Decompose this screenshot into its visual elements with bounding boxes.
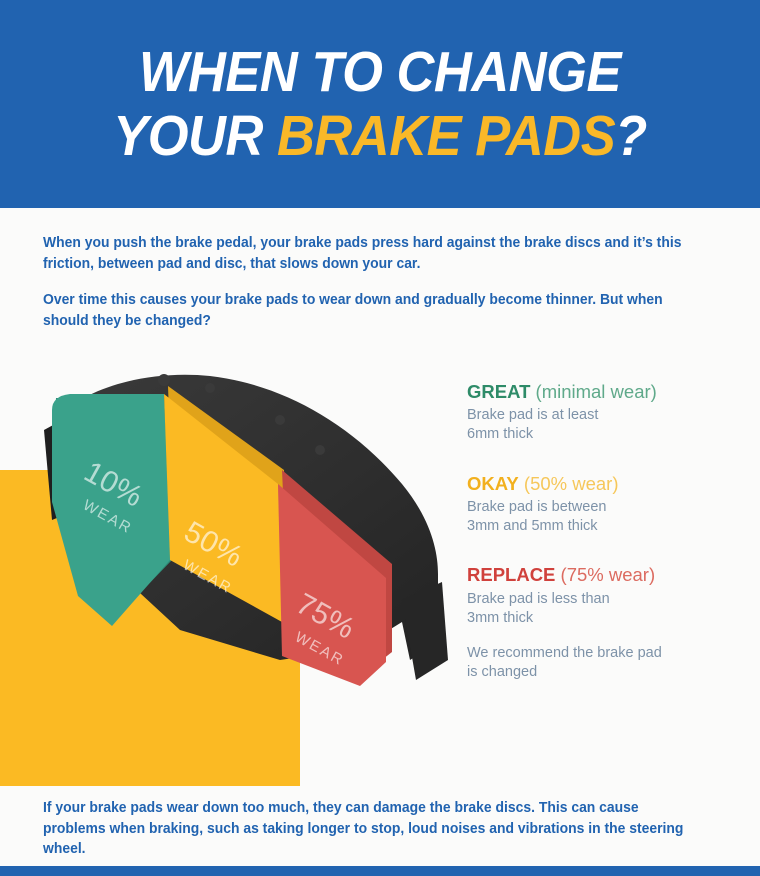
legend-replace-note-line-1: We recommend the brake pad bbox=[467, 644, 737, 663]
legend-replace-heading: REPLACE (75% wear) bbox=[467, 563, 737, 586]
page-title-question-mark: ? bbox=[615, 104, 647, 168]
legend-great-body-line-2: 6mm thick bbox=[467, 425, 737, 444]
page-title-line-1: WHEN TO CHANGE bbox=[139, 43, 621, 101]
brake-pad-illustration: 10% WEAR 50% WEAR 75% WEAR bbox=[30, 360, 470, 720]
legend-okay-heading: OKAY (50% wear) bbox=[467, 472, 737, 495]
wear-legend: GREAT (minimal wear) Brake pad is at lea… bbox=[467, 380, 737, 710]
legend-replace-note-line-2: is changed bbox=[467, 663, 737, 682]
intro-text: When you push the brake pedal, your brak… bbox=[43, 233, 686, 331]
header-banner: WHEN TO CHANGE YOUR BRAKE PADS? bbox=[0, 0, 760, 208]
legend-replace-body-line-2: 3mm thick bbox=[467, 609, 737, 628]
legend-item-replace: REPLACE (75% wear) Brake pad is less tha… bbox=[467, 563, 737, 682]
legend-okay-body-line-2: 3mm and 5mm thick bbox=[467, 517, 737, 536]
legend-okay-keyword: OKAY bbox=[467, 473, 519, 494]
intro-paragraph-1: When you push the brake pedal, your brak… bbox=[43, 233, 686, 274]
footnote-text: If your brake pads wear down too much, t… bbox=[43, 798, 696, 860]
legend-great-qualifier: (minimal wear) bbox=[536, 381, 657, 402]
legend-great-keyword: GREAT bbox=[467, 381, 530, 402]
footnote-paragraph: If your brake pads wear down too much, t… bbox=[43, 798, 696, 860]
page-title-plain: YOUR bbox=[113, 104, 277, 168]
legend-okay-body-line-1: Brake pad is between bbox=[467, 498, 737, 517]
intro-paragraph-2: Over time this causes your brake pads to… bbox=[43, 290, 686, 331]
bottom-accent-bar bbox=[0, 866, 760, 876]
legend-great-heading: GREAT (minimal wear) bbox=[467, 380, 737, 403]
legend-okay-qualifier: (50% wear) bbox=[524, 473, 619, 494]
legend-great-body-line-1: Brake pad is at least bbox=[467, 406, 737, 425]
legend-replace-keyword: REPLACE bbox=[467, 564, 555, 585]
legend-item-okay: OKAY (50% wear) Brake pad is between 3mm… bbox=[467, 472, 737, 537]
page-title-accent: BRAKE PADS bbox=[277, 104, 615, 168]
legend-replace-qualifier: (75% wear) bbox=[561, 564, 656, 585]
legend-replace-body-line-1: Brake pad is less than bbox=[467, 590, 737, 609]
infographic-page: WHEN TO CHANGE YOUR BRAKE PADS? When you… bbox=[0, 0, 760, 876]
page-title-line-2: YOUR BRAKE PADS? bbox=[113, 107, 647, 165]
legend-item-great: GREAT (minimal wear) Brake pad is at lea… bbox=[467, 380, 737, 445]
